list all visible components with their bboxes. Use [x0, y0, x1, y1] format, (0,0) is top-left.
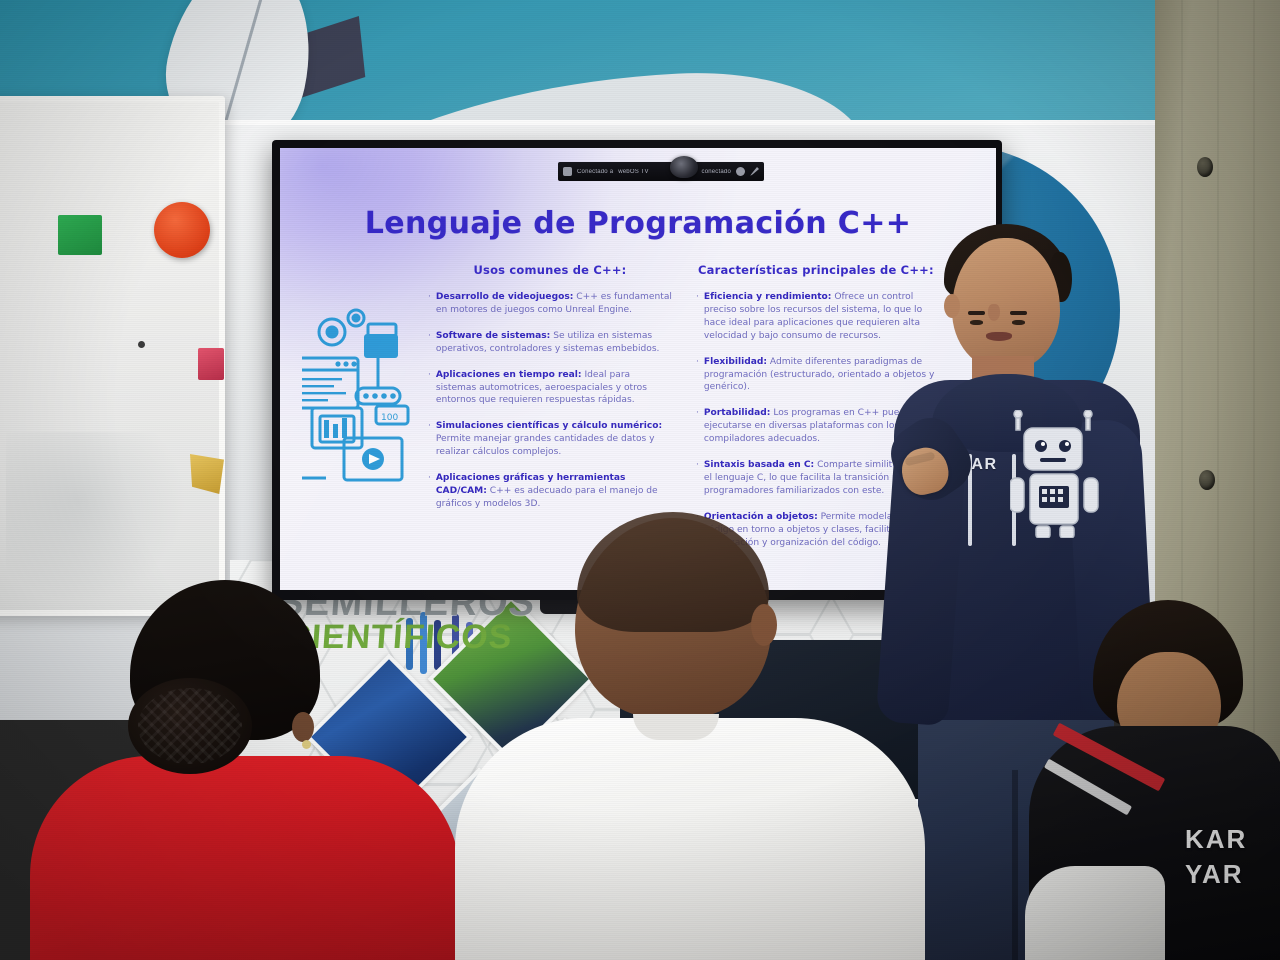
webcam-status-bar: Conectado a webOS TV conectado: [558, 162, 764, 181]
bullet-dot-icon: ·: [428, 330, 431, 356]
bullet-term: Portabilidad:: [704, 408, 771, 418]
bullet-dot-icon: ·: [428, 420, 431, 459]
slide-bullet: · Aplicaciones gráficas y herramientas C…: [428, 472, 672, 511]
svg-text:100: 100: [381, 413, 398, 423]
webcam-bar-mid-text: webOS TV: [618, 169, 649, 175]
jacket-name-line2: YAR: [1185, 859, 1244, 889]
bullet-term: Eficiencia y rendimiento:: [704, 292, 832, 302]
audience-black-jacket-shoulder: [1025, 866, 1165, 960]
audience-white-shirt-hair: [577, 512, 769, 632]
audience-white-shirt: [465, 518, 945, 960]
pen-icon[interactable]: [750, 167, 759, 176]
bullet-dot-icon: ·: [428, 291, 431, 317]
webcam-lens-icon: [670, 156, 698, 178]
small-dot-mark: [138, 341, 145, 348]
jacket-name-text: KARYAR: [1185, 822, 1247, 892]
webcam-bar-right-text: conectado: [702, 169, 732, 175]
slide-bullet: · Desarrollo de videojuegos: C++ es fund…: [428, 291, 672, 317]
bullet-dot-icon: ·: [696, 459, 699, 498]
audience-white-shirt-collar: [633, 714, 719, 740]
classroom-scene: SEMILLEROS CIENTÍFICOS Lenguaje de Progr…: [0, 0, 1280, 960]
bullet-dot-icon: ·: [696, 407, 699, 446]
bullet-dot-icon: ·: [428, 369, 431, 408]
bullet-term: Software de sistemas:: [436, 331, 550, 341]
bullet-dot-icon: ·: [428, 472, 431, 511]
pink-square-magnet[interactable]: [198, 348, 224, 380]
screen-icon: [563, 167, 572, 176]
bullet-term: Desarrollo de videojuegos:: [436, 292, 574, 302]
presenter-nose: [988, 304, 1000, 321]
yellow-sticky-note[interactable]: [190, 454, 224, 494]
column-heading: Usos comunes de C++:: [428, 263, 672, 277]
webcam-bar-left-text: Conectado a: [577, 169, 613, 175]
robot-mascot-icon: [1010, 410, 1106, 538]
presenter-leg-seam: [1012, 770, 1018, 960]
audience-red-shirt: [30, 580, 470, 960]
audience-black-jacket: KARYAR: [1035, 600, 1280, 960]
audience-white-shirt-ear: [751, 604, 777, 646]
presenter-ear: [944, 294, 960, 318]
gear-icon[interactable]: [736, 167, 745, 176]
bullet-term: Aplicaciones en tiempo real:: [436, 370, 582, 380]
audience-red-shirt-body: [30, 756, 460, 960]
whiteboard-smudge: [6, 432, 186, 602]
bullet-term: Sintaxis basada en C:: [704, 460, 814, 470]
audience-red-shirt-bun: [128, 678, 252, 774]
bullet-text: Permite manejar grandes cantidades de da…: [436, 434, 655, 457]
bullet-dot-icon: ·: [696, 291, 699, 343]
earring-icon: [302, 740, 311, 749]
bullet-term: Flexibilidad:: [704, 357, 767, 367]
audience-white-shirt-body: [455, 718, 925, 960]
slide-bullet: · Software de sistemas: Se utiliza en si…: [428, 330, 672, 356]
orange-circle-magnet[interactable]: [154, 202, 210, 258]
green-square-magnet[interactable]: [58, 215, 102, 255]
presenter-head: [952, 238, 1060, 370]
presenter-mouth: [986, 332, 1012, 341]
bullet-dot-icon: ·: [696, 356, 699, 395]
bullet-term: Simulaciones científicas y cálculo numér…: [436, 421, 662, 431]
jacket-name-line1: KAR: [1185, 824, 1247, 854]
slide-bullet: · Aplicaciones en tiempo real: Ideal par…: [428, 369, 672, 408]
audience-red-shirt-ear: [292, 712, 314, 742]
web-development-illustration-icon: 100: [302, 296, 414, 496]
whiteboard: [0, 96, 225, 616]
slide-bullet: · Simulaciones científicas y cálculo num…: [428, 420, 672, 459]
